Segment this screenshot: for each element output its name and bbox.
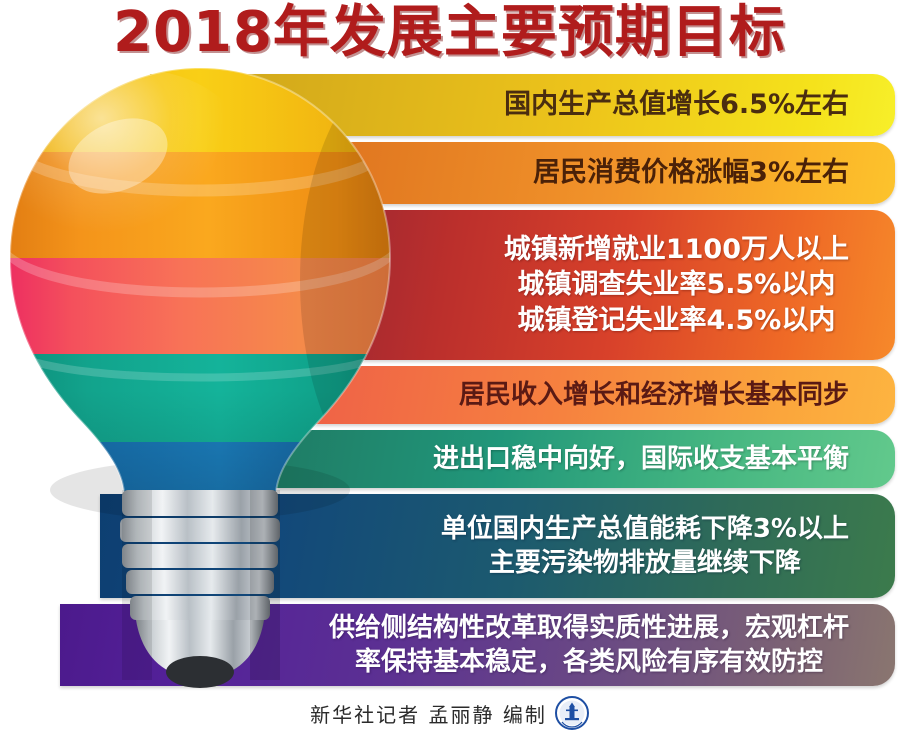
footer: 新华社记者 孟丽静 编制 [0, 692, 899, 734]
goal-line: 率保持基本稳定，各类风险有序有效防控 [329, 645, 849, 679]
goal-band-gdp-growth-text: 国内生产总值增长6.5%左右 [504, 87, 895, 123]
light-bulb-illustration [0, 60, 400, 720]
goal-line: 主要污染物排放量继续下降 [441, 546, 849, 580]
goal-line: 居民收入增长和经济增长基本同步 [459, 378, 849, 412]
xinhua-news-agency-logo [555, 696, 589, 730]
screw-shade-left [122, 490, 152, 680]
footer-credit: 新华社记者 孟丽静 编制 [310, 699, 547, 728]
goal-line: 单位国内生产总值能耗下降3%以上 [441, 512, 849, 546]
goal-line: 进出口稳中向好，国际收支基本平衡 [433, 442, 849, 476]
goal-band-income-growth-text: 居民收入增长和经济增长基本同步 [459, 378, 895, 412]
goal-band-energy-emissions-text: 单位国内生产总值能耗下降3%以上 主要污染物排放量继续下降 [441, 512, 895, 581]
bulb-screw-base [120, 490, 280, 688]
infographic-poster: 2018年发展主要预期目标 国内生产总值增长6.5%左右 居民消费价格涨幅3%左… [0, 0, 899, 734]
goal-line: 国内生产总值增长6.5%左右 [504, 87, 849, 123]
goal-line: 城镇调查失业率5.5%以内 [504, 267, 849, 303]
goal-band-supply-side-reform-text: 供给侧结构性改革取得实质性进展，宏观杠杆 率保持基本稳定，各类风险有序有效防控 [329, 611, 895, 680]
goal-band-cpi-text: 居民消费价格涨幅3%左右 [533, 155, 895, 191]
goal-band-trade-balance-text: 进出口稳中向好，国际收支基本平衡 [433, 442, 895, 476]
goal-line: 供给侧结构性改革取得实质性进展，宏观杠杆 [329, 611, 849, 645]
logo-tower-body [569, 707, 574, 718]
screw-contact [166, 656, 234, 688]
screw-shade-right [250, 490, 280, 680]
goal-line: 居民消费价格涨幅3%左右 [533, 155, 849, 191]
logo-tower-base [565, 718, 579, 720]
goal-line: 城镇登记失业率4.5%以内 [504, 303, 849, 339]
logo-tower-bar [566, 710, 578, 712]
goal-band-employment-text: 城镇新增就业1100万人以上 城镇调查失业率5.5%以内 城镇登记失业率4.5%… [504, 232, 895, 339]
goal-line: 城镇新增就业1100万人以上 [504, 232, 849, 268]
page-title: 2018年发展主要预期目标 [0, 0, 899, 68]
